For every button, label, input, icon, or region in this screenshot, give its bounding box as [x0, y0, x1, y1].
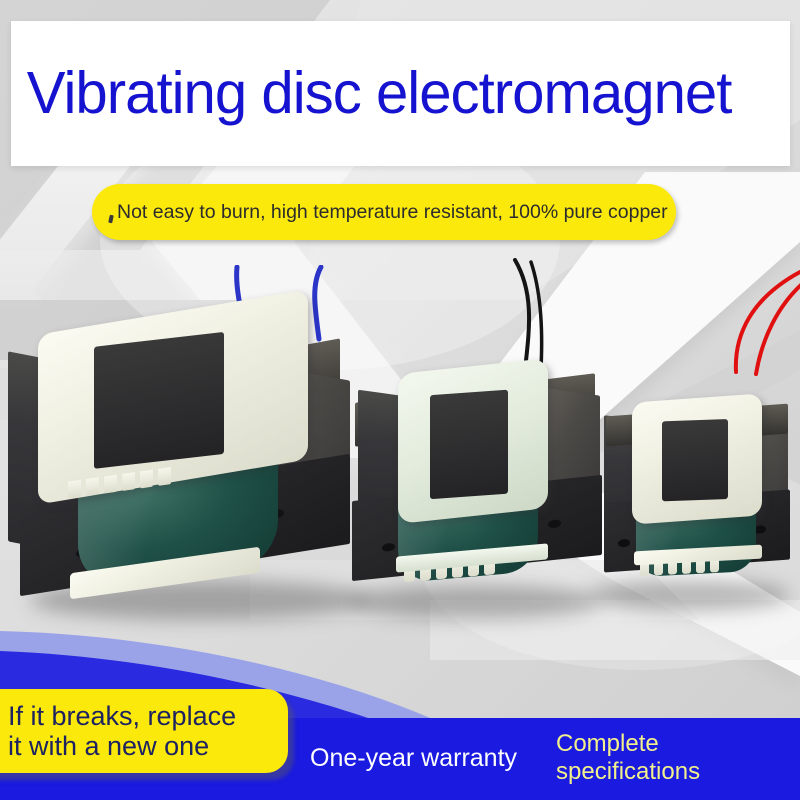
core-window: [662, 419, 728, 501]
product-shadow: [350, 585, 600, 619]
insulator-plate: [632, 393, 762, 524]
red-lead-wires: [718, 268, 800, 378]
feature-pill-text: Not easy to burn, high temperature resis…: [92, 201, 668, 224]
insulator-plate: [398, 358, 548, 524]
page-title: Vibrating disc electromagnet: [11, 64, 731, 123]
replacement-callout: If it breaks, replace it with a new one: [0, 689, 288, 773]
feature-pill: Not easy to burn, high temperature resis…: [92, 184, 676, 240]
title-banner: Vibrating disc electromagnet: [11, 21, 790, 166]
core-window: [430, 390, 508, 499]
specifications-text: Complete specifications: [556, 730, 700, 786]
warranty-text: One-year warranty: [310, 744, 517, 773]
specifications-line-2: specifications: [556, 758, 700, 786]
callout-line-2: it with a new one: [0, 731, 288, 761]
product-shadow: [590, 580, 790, 610]
callout-line-1: If it breaks, replace: [0, 701, 288, 731]
product-photo: [0, 250, 800, 650]
core-window: [94, 332, 224, 469]
promo-image: Vibrating disc electromagnet Not easy to…: [0, 0, 800, 800]
specifications-line-1: Complete: [556, 730, 700, 758]
